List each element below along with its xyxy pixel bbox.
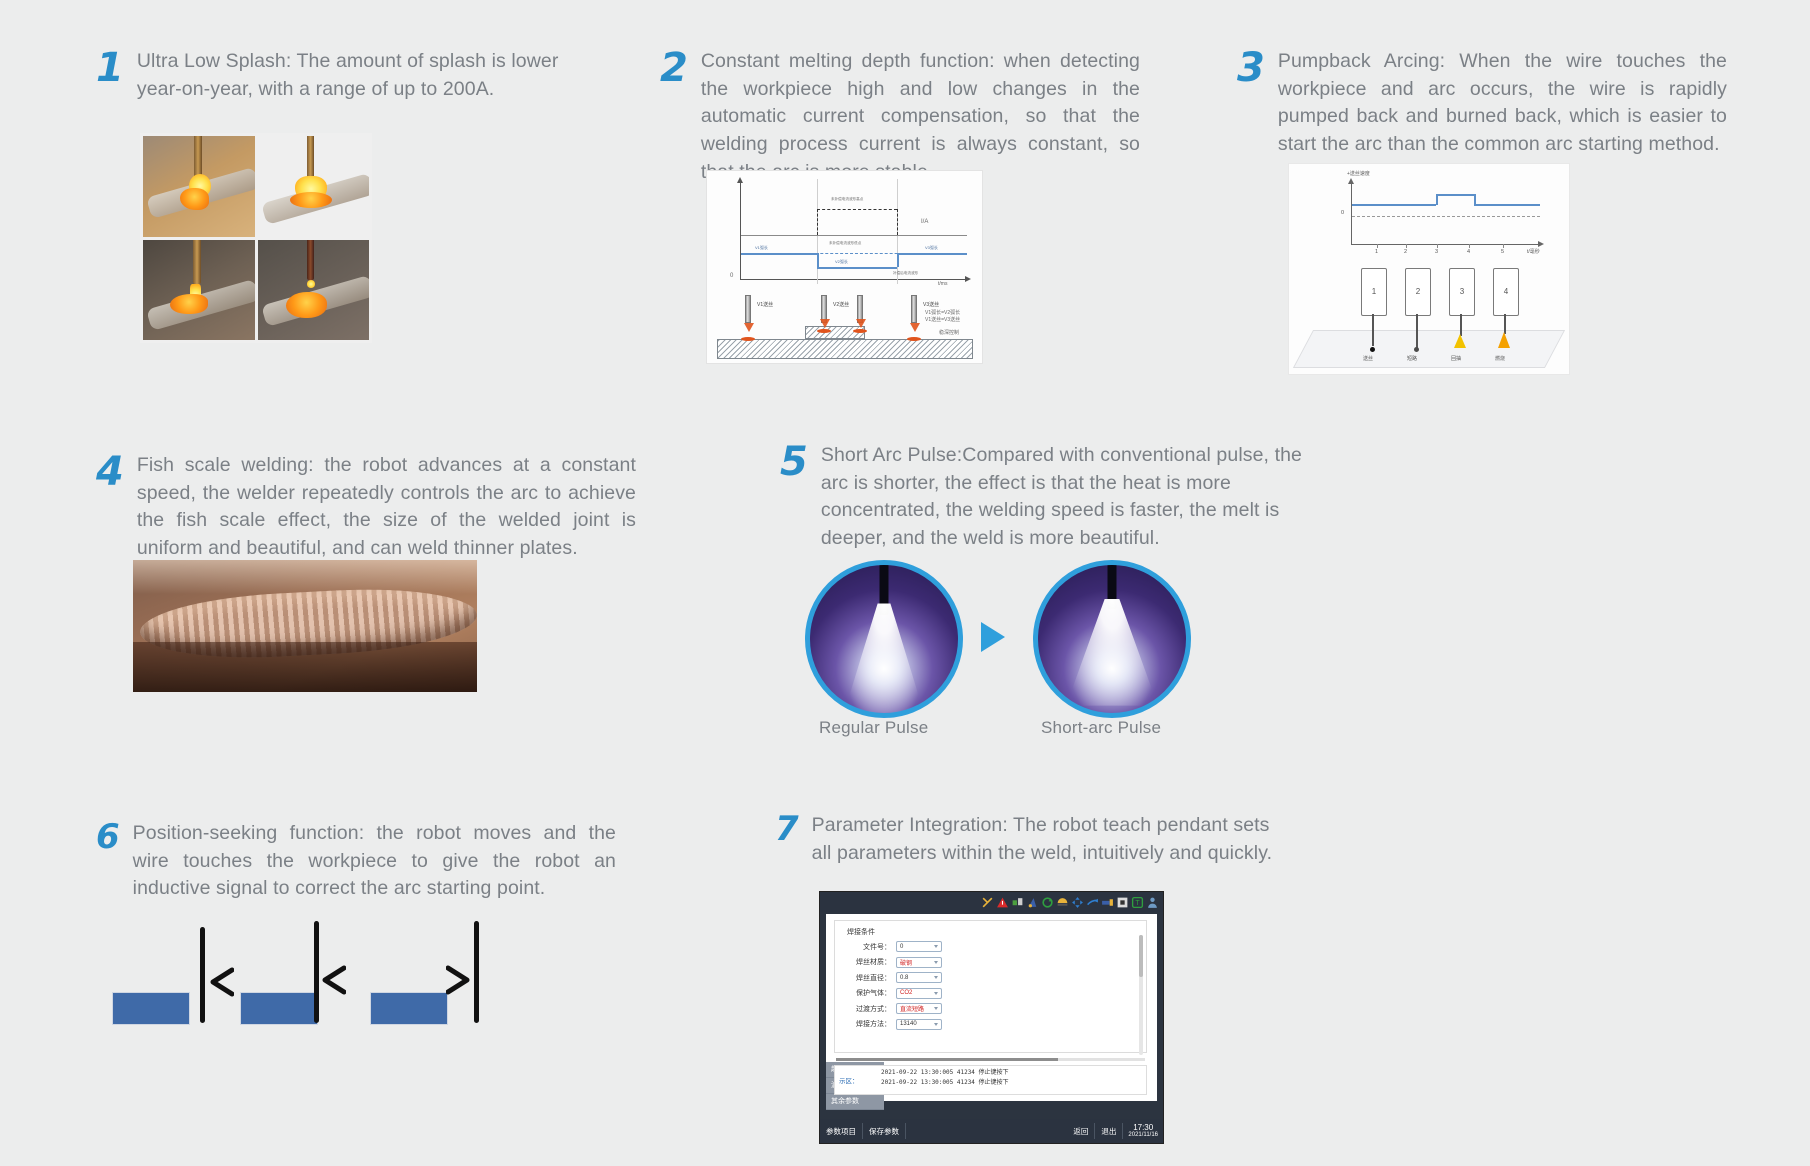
left-chevron-icon (320, 965, 346, 995)
feature-3-number: 3 (1237, 48, 1264, 88)
cycle-icon[interactable] (1041, 896, 1054, 909)
file-number-select[interactable]: 0 (896, 941, 942, 952)
vertical-scrollbar[interactable] (1139, 935, 1143, 1055)
short-arc-pulse-caption: Short-arc Pulse (1041, 718, 1161, 738)
pumpback-y-label: +送丝速度 (1347, 170, 1370, 177)
stage-wire-4 (1504, 314, 1506, 334)
torch-wire (307, 240, 315, 280)
torch-3 (911, 295, 917, 323)
stage-caption-1: 送丝 (1363, 355, 1373, 362)
torch-wire (193, 240, 201, 284)
feature-4-header: 4 Fish scale welding: the robot advances… (96, 452, 636, 563)
wire-line (314, 921, 319, 1023)
button-exit[interactable]: 退出 (1095, 1126, 1122, 1137)
feature-4-text: Fish scale welding: the robot advances a… (137, 452, 636, 563)
chevron-down-icon (934, 976, 938, 979)
feature-6-text: Position-seeking function: the robot mov… (133, 820, 616, 903)
log-label: 示区： (839, 1075, 859, 1085)
arc-blob (307, 280, 316, 288)
curve-label-v2: V2弧长 (835, 259, 848, 265)
message-log: 示区： 2021-09-22 13:30:005 41234 停止键按下 202… (834, 1065, 1147, 1095)
splash-photo-1 (143, 136, 255, 237)
y-axis-label: I/A (921, 219, 928, 225)
chevron-down-icon (934, 945, 938, 948)
wire-feed-seg-2 (1474, 204, 1540, 206)
stage-wire-3 (1460, 314, 1462, 336)
wire-feed-peak (1436, 194, 1474, 196)
tick-3 (1437, 244, 1438, 248)
stage-wire-1 (1372, 314, 1374, 346)
feature-5-number: 5 (780, 442, 807, 482)
arc-length-seg-2 (817, 267, 897, 269)
arc-3 (910, 323, 920, 332)
arc-length-rise (897, 253, 899, 267)
seek-step-3 (370, 915, 490, 1025)
zero-reference (1352, 216, 1540, 217)
workpiece-plate (240, 992, 318, 1025)
infographic-page: 1 Ultra Low Splash: The amount of splash… (0, 0, 1810, 1166)
pendant-bottom-bar[interactable]: 参数项目 保存参数 返回 退出 17:30 2021/11/16 (820, 1119, 1163, 1143)
stage-box-4-label: 4 (1494, 287, 1518, 296)
stage-box-4: 4 (1493, 268, 1519, 316)
chart-caption: 稳深控制 (939, 329, 959, 336)
feature-4-number: 4 (96, 452, 123, 492)
pool-3 (907, 337, 921, 341)
annotation-compensated-high: 未补偿电流波形高点 (831, 197, 863, 202)
wire-feed-seg-1 (1352, 204, 1436, 206)
clock-time: 17:30 (1128, 1123, 1158, 1132)
feature-block-2: 2 Constant melting depth function: when … (660, 48, 1140, 186)
feature-1-number: 1 (96, 48, 123, 88)
tick-1 (1377, 244, 1378, 248)
weld-pool (170, 294, 208, 314)
compensated-high-segment (817, 209, 897, 210)
record-icon[interactable] (1116, 896, 1129, 909)
photo-highlight (133, 560, 477, 594)
stage-box-1: 1 (1361, 268, 1387, 316)
field-row-transfer-mode: 过渡方式： 直流短路 (849, 1003, 942, 1014)
annotation-uncompensated-low: 未补偿电流波形低点 (829, 241, 861, 246)
tick-label-3: 3 (1435, 249, 1438, 255)
welding-parameters-form: 文件号： 0 焊丝材质： 破钢 焊丝直径 (849, 941, 942, 1034)
stage-box-2-label: 2 (1406, 287, 1430, 296)
tick-5 (1503, 244, 1504, 248)
warning-icon[interactable] (996, 896, 1009, 909)
tab-other-parameters[interactable]: 其余参数 (826, 1094, 884, 1110)
play-arrow-icon (981, 622, 1005, 652)
x-axis-arrow-icon (1538, 241, 1544, 247)
uncompensated-current-line (741, 235, 967, 236)
jog-icon[interactable] (1086, 896, 1099, 909)
x-axis (1351, 244, 1541, 245)
feature-block-4: 4 Fish scale welding: the robot advances… (96, 452, 636, 563)
constant-melting-depth-chart: 0 I/A t/ms 未补偿电流波形高点 未补偿电流波形低点 补偿后电流波形 V… (706, 170, 983, 364)
field-row-shielding-gas: 保护气体： CO2 (849, 988, 942, 999)
feature-2-number: 2 (660, 48, 687, 88)
scrollbar-thumb[interactable] (836, 1058, 1058, 1061)
pumpback-arcing-chart: +送丝速度 0 t/毫秒 1 2 3 4 5 1 送丝 2 (1288, 163, 1570, 375)
arc-2 (820, 319, 830, 328)
zero-label: 0 (1341, 210, 1344, 216)
field-row-file-number: 文件号： 0 (849, 941, 942, 952)
splash-photo-4 (258, 240, 370, 341)
feature-3-text: Pumpback Arcing: When the wire touches t… (1278, 48, 1727, 159)
compensated-step-fall (897, 209, 898, 235)
stage-caption-4: 燃烧 (1495, 355, 1505, 362)
field-label: 焊接方法： (849, 1019, 891, 1029)
pulse-comparison: Regular Pulse Short-arc Pulse (805, 560, 1195, 728)
field-row-wire-material: 焊丝材质： 破钢 (849, 957, 942, 968)
welding-conditions-panel: 焊接条件 文件号： 0 焊丝材质： 破钢 (834, 920, 1147, 1053)
chevron-down-icon (934, 1007, 938, 1010)
melting-chart-workpiece: V1送丝 V2送丝 V3送丝 V1弧长=V2弧长 V1送丝=V3送丝 稳深控制 (707, 289, 982, 363)
feature-6-number: 6 (96, 820, 119, 854)
wire-feed-rise (1436, 194, 1438, 205)
welding-method-select[interactable]: 13140 (896, 1019, 942, 1030)
curve-label-v1: V1弧长 (755, 245, 768, 251)
stage-wire-2 (1416, 314, 1418, 348)
contact-dot-1 (1370, 347, 1375, 352)
seek-step-2 (240, 915, 360, 1025)
feature-2-header: 2 Constant melting depth function: when … (660, 48, 1140, 186)
torch-1 (745, 295, 751, 323)
stage-box-1-label: 1 (1362, 287, 1386, 296)
wire-line (200, 927, 205, 1023)
x-axis-label: t/ms (938, 281, 947, 287)
feature-5-text: Short Arc Pulse:Compared with convention… (821, 442, 1310, 553)
feature-1-header: 1 Ultra Low Splash: The amount of splash… (96, 48, 566, 103)
splash-photo-3 (143, 240, 255, 341)
tick-label-2: 2 (1404, 249, 1407, 255)
pendant-screen: 焊接条件 文件号： 0 焊丝材质： 破钢 (826, 914, 1157, 1101)
zero-label: 0 (730, 273, 733, 279)
arc-flame-4 (1498, 332, 1510, 348)
stage-box-2: 2 (1405, 268, 1431, 316)
pool-2b (853, 329, 867, 333)
log-line: 2021-09-22 13:30:005 41234 停止键按下 (881, 1078, 1144, 1088)
splash-photo-2 (258, 136, 370, 237)
y-axis (1351, 182, 1352, 244)
feature-5-header: 5 Short Arc Pulse:Compared with conventi… (780, 442, 1310, 553)
log-line: 2021-09-22 13:30:005 41234 停止键按下 (881, 1068, 1144, 1078)
short-arc-pulse-image (1033, 560, 1191, 718)
feature-1-text: Ultra Low Splash: The amount of splash i… (137, 48, 566, 103)
field-label: 文件号： (849, 942, 891, 952)
tick-label-5: 5 (1501, 249, 1504, 255)
weld-icon[interactable] (1101, 896, 1114, 909)
pool-2 (817, 329, 831, 333)
pool-1 (741, 337, 755, 341)
horizontal-scrollbar[interactable] (836, 1058, 1145, 1061)
pendant-toolbar[interactable]: T (820, 892, 1163, 912)
splash-photo-grid (140, 133, 372, 343)
speed-icon[interactable] (1056, 896, 1069, 909)
left-chevron-icon (208, 967, 234, 997)
feature-block-6: 6 Position-seeking function: the robot m… (96, 820, 616, 903)
wire-line (474, 921, 479, 1023)
field-row-wire-diameter: 焊丝直径： 0.8 (849, 972, 942, 983)
field-value: 破钢 (900, 958, 912, 967)
compensated-step-rise (817, 209, 818, 235)
y-axis-arrow-icon (1348, 178, 1354, 184)
torch-label-v3: V3送丝 (923, 301, 939, 308)
feature-6-header: 6 Position-seeking function: the robot m… (96, 820, 616, 903)
relation-2: V1送丝=V3送丝 (925, 316, 960, 323)
field-label: 保护气体： (849, 988, 891, 998)
status-clock: 17:30 2021/11/16 (1123, 1123, 1163, 1139)
curve-label-v3: V3弧长 (925, 245, 938, 251)
arc-1 (744, 323, 754, 332)
field-label: 焊丝材质： (849, 957, 891, 967)
y-axis (740, 181, 741, 279)
feature-block-7: 7 Parameter Integration: The robot teach… (775, 812, 1295, 867)
wire-diameter-select[interactable]: 0.8 (896, 972, 942, 983)
tick-2 (1406, 244, 1407, 248)
feature-7-text: Parameter Integration: The robot teach p… (812, 812, 1290, 867)
contact-dot-2 (1414, 347, 1419, 352)
field-row-welding-method: 焊接方法： 13140 (849, 1019, 942, 1030)
feature-3-header: 3 Pumpback Arcing: When the wire touches… (1237, 48, 1727, 159)
feature-block-3: 3 Pumpback Arcing: When the wire touches… (1237, 48, 1727, 159)
feature-7-header: 7 Parameter Integration: The robot teach… (775, 812, 1295, 867)
feature-2-text: Constant melting depth function: when de… (701, 48, 1140, 186)
feature-block-5: 5 Short Arc Pulse:Compared with conventi… (780, 442, 1310, 553)
right-chevron-icon (446, 965, 472, 995)
user-icon[interactable] (1146, 896, 1159, 909)
arc-flame-3 (1454, 334, 1466, 348)
wire-material-select[interactable]: 破钢 (896, 957, 942, 968)
tools-icon[interactable] (981, 896, 994, 909)
torch-label-v2: V2送丝 (833, 301, 849, 308)
weld-pool (286, 292, 326, 318)
stage-box-3-label: 3 (1450, 287, 1474, 296)
seek-step-1 (112, 915, 232, 1025)
arc-2b (856, 319, 866, 328)
feature-block-1: 1 Ultra Low Splash: The amount of splash… (96, 48, 566, 103)
tick-4 (1469, 244, 1470, 248)
robot-icon[interactable] (1011, 896, 1024, 909)
teach-pendant-screenshot[interactable]: T 焊接条件 文件号： 0 焊丝材质： (819, 891, 1164, 1144)
field-value: 13140 (900, 1021, 917, 1027)
field-value: 0 (900, 944, 903, 950)
position-seeking-diagram (112, 915, 512, 1025)
y-axis-arrow-icon (737, 177, 743, 183)
field-label: 过渡方式： (849, 1004, 891, 1014)
arc-cone (844, 603, 924, 713)
panel-title: 焊接条件 (847, 927, 875, 937)
chevron-down-icon (934, 992, 938, 995)
arc-cone (1066, 599, 1158, 706)
arc-length-drop (817, 253, 819, 267)
workpiece-plate (370, 992, 448, 1025)
x-axis (740, 279, 968, 280)
field-value: CO2 (900, 990, 912, 996)
run-icon[interactable] (1026, 896, 1039, 909)
base-plate (717, 339, 973, 359)
workpiece-plate (112, 992, 190, 1025)
button-back[interactable]: 返回 (1067, 1126, 1094, 1137)
workpiece-surface (1293, 330, 1565, 368)
photo-shadow (133, 642, 477, 692)
svg-text:T: T (1135, 900, 1140, 907)
stage-caption-2: 短路 (1407, 355, 1417, 362)
button-parameter-items[interactable]: 参数项目 (820, 1126, 862, 1137)
tick-label-4: 4 (1467, 249, 1470, 255)
annotation-after-compensation: 补偿后电流波形 (893, 271, 918, 276)
field-value: 直流短路 (900, 1004, 924, 1013)
fish-scale-weld-photo (133, 560, 477, 692)
melting-chart-plot: 0 I/A t/ms 未补偿电流波形高点 未补偿电流波形低点 补偿后电流波形 V… (707, 171, 982, 291)
stage-caption-3: 回抽 (1451, 355, 1461, 362)
teach-icon[interactable]: T (1131, 896, 1144, 909)
relation-1: V1弧长=V2弧长 (925, 309, 960, 316)
pumpback-x-label: t/毫秒 (1527, 248, 1540, 255)
scrollbar-thumb[interactable] (1139, 935, 1143, 977)
field-value: 0.8 (900, 975, 908, 981)
button-save-parameters[interactable]: 保存参数 (863, 1126, 905, 1137)
chevron-down-icon (934, 961, 938, 964)
torch-label-v1: V1送丝 (757, 301, 773, 308)
divider (905, 1123, 906, 1139)
x-axis-arrow-icon (965, 276, 971, 282)
shielding-gas-select[interactable]: CO2 (896, 988, 942, 999)
regular-pulse-image (805, 560, 963, 718)
move-icon[interactable] (1071, 896, 1084, 909)
field-label: 焊丝直径： (849, 973, 891, 983)
feature-7-number: 7 (775, 812, 798, 846)
stage-box-3: 3 (1449, 268, 1475, 316)
arc-length-reference (741, 253, 967, 254)
transfer-mode-select[interactable]: 直流短路 (896, 1003, 942, 1014)
tick-label-1: 1 (1375, 249, 1378, 255)
clock-date: 2021/11/16 (1128, 1132, 1158, 1139)
chevron-down-icon (934, 1023, 938, 1026)
regular-pulse-caption: Regular Pulse (819, 718, 928, 738)
